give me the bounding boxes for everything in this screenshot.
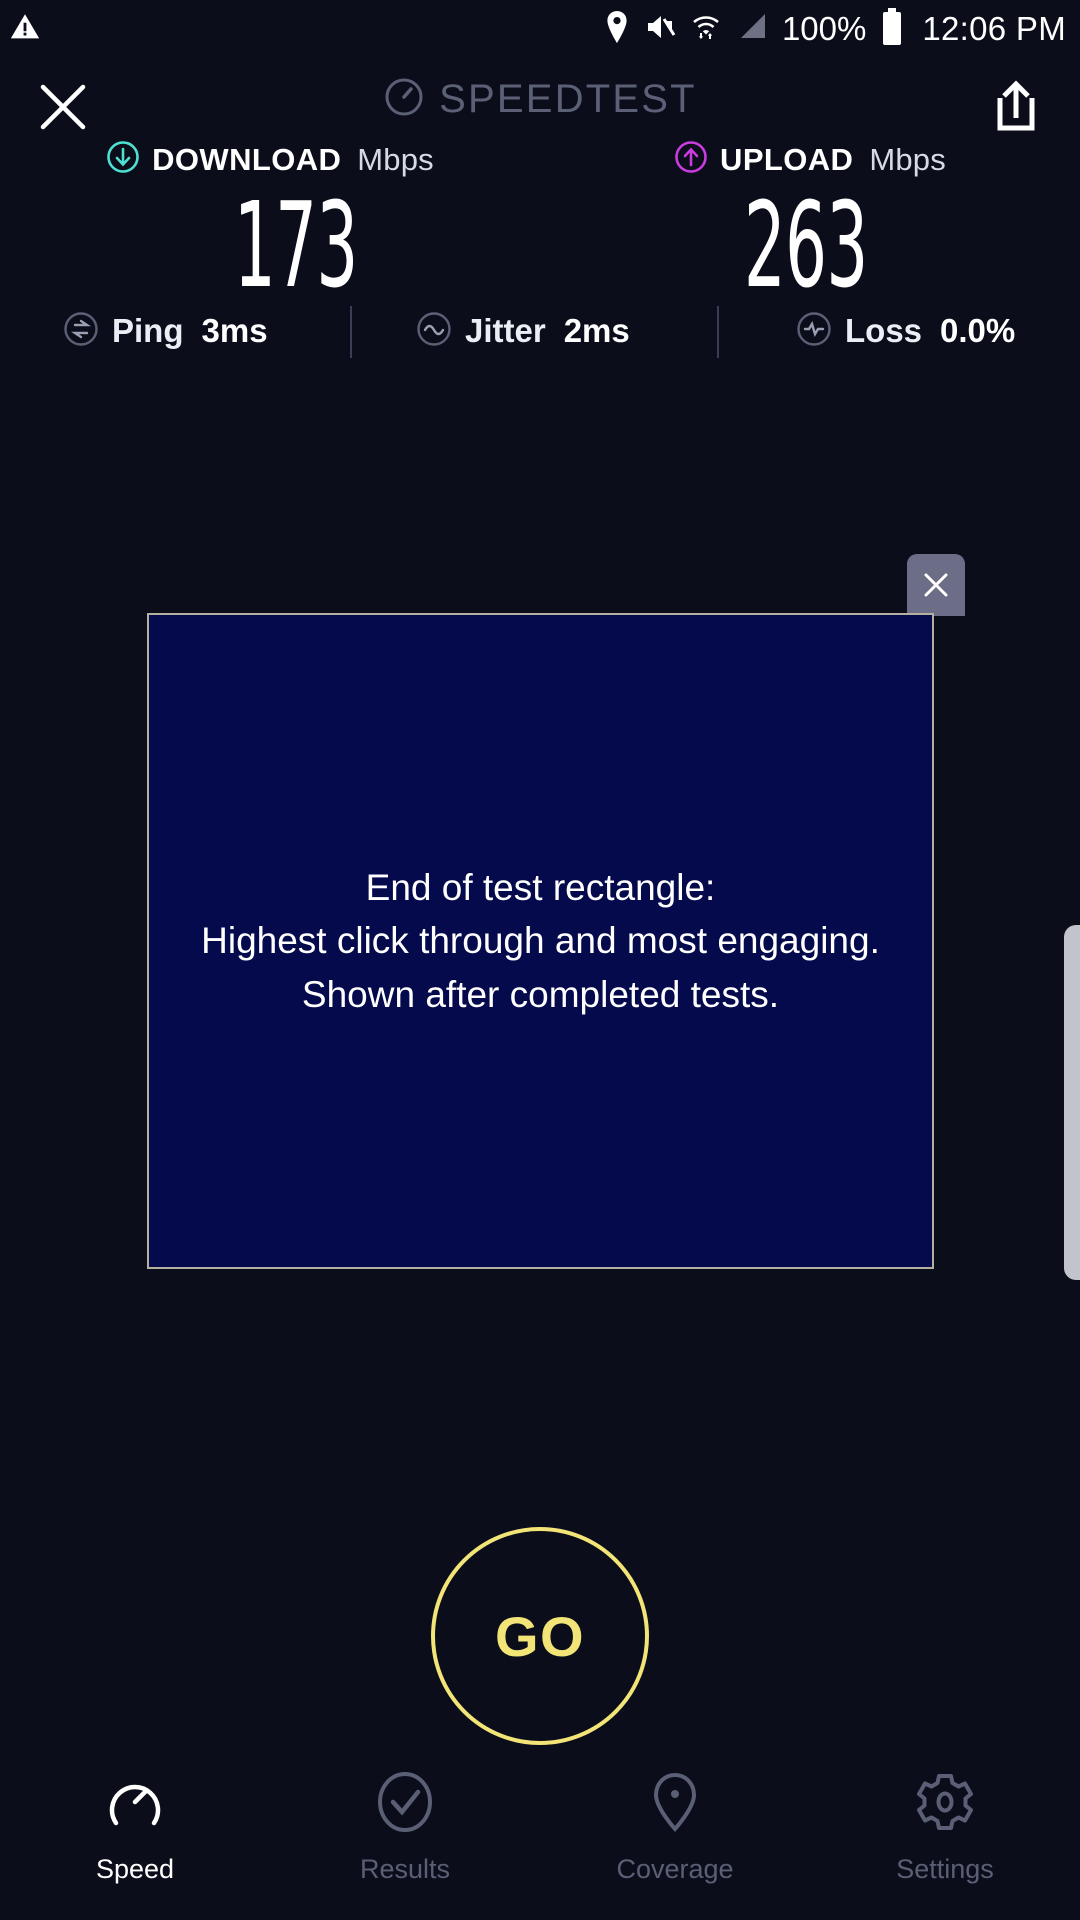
share-icon[interactable] <box>988 78 1044 136</box>
connection-metrics: Ping 3ms Jitter 2ms Loss 0.0% <box>0 300 1080 362</box>
status-bar-clock: 12:06 PM <box>922 10 1066 48</box>
go-button[interactable]: GO <box>431 1527 649 1745</box>
location-pin-icon <box>642 1766 708 1838</box>
metric-loss-value: 0.0% <box>940 312 1015 350</box>
ad-creative[interactable]: End of test rectangle: Highest click thr… <box>147 613 934 1269</box>
app-brand: SPEEDTEST <box>0 76 1080 123</box>
advertisement-container: End of test rectangle: Highest click thr… <box>147 613 934 1269</box>
battery-full-icon <box>880 8 904 51</box>
metric-loss-label: Loss <box>845 312 922 350</box>
download-label: DOWNLOAD <box>152 142 341 178</box>
nav-label-coverage: Coverage <box>616 1854 733 1885</box>
metric-loss: Loss 0.0% <box>795 310 1015 353</box>
download-result: DOWNLOAD Mbps 173 <box>0 140 540 305</box>
download-unit: Mbps <box>357 142 434 178</box>
battery-percent-label: 100% <box>782 10 866 48</box>
metric-ping-label: Ping <box>112 312 184 350</box>
status-bar-right: 100% 12:06 PM <box>604 8 1066 51</box>
app-header: SPEEDTEST <box>0 58 1080 150</box>
metric-divider <box>350 306 352 358</box>
metric-jitter-label: Jitter <box>465 312 546 350</box>
download-value: 173 <box>234 185 358 305</box>
mute-bell-icon <box>644 12 676 47</box>
ad-text: End of test rectangle: Highest click thr… <box>187 861 894 1022</box>
cellular-signal-icon <box>736 12 768 47</box>
bottom-navigation: Speed Results Coverage <box>0 1750 1080 1920</box>
loss-icon <box>795 310 833 353</box>
upload-value: 263 <box>744 185 868 305</box>
download-arrow-icon <box>106 140 140 179</box>
speedometer-icon <box>383 76 425 123</box>
upload-arrow-icon <box>674 140 708 179</box>
status-bar-left <box>8 10 42 49</box>
nav-item-speed[interactable]: Speed <box>0 1766 270 1885</box>
metric-ping-value: 3ms <box>202 312 268 350</box>
metric-divider <box>717 306 719 358</box>
jitter-icon <box>415 310 453 353</box>
wifi-icon <box>690 11 722 48</box>
go-button-label: GO <box>495 1604 585 1669</box>
metric-jitter-value: 2ms <box>564 312 630 350</box>
status-bar: 100% 12:06 PM <box>0 0 1080 58</box>
metric-ping: Ping 3ms <box>62 310 268 353</box>
location-pin-icon <box>604 11 630 48</box>
nav-label-results: Results <box>360 1854 450 1885</box>
app-title: SPEEDTEST <box>439 77 697 122</box>
speedtest-app-screen: 100% 12:06 PM SPEEDTEST <box>0 0 1080 1920</box>
side-scroll-tab[interactable] <box>1064 925 1080 1280</box>
upload-result: UPLOAD Mbps 263 <box>540 140 1080 305</box>
speed-results: DOWNLOAD Mbps 173 UPLOAD Mbps 263 <box>0 140 1080 305</box>
ad-close-icon[interactable] <box>907 554 965 616</box>
check-circle-icon <box>372 1766 438 1838</box>
nav-item-settings[interactable]: Settings <box>810 1766 1080 1885</box>
gear-icon <box>912 1766 978 1838</box>
nav-item-coverage[interactable]: Coverage <box>540 1766 810 1885</box>
speedometer-icon <box>102 1766 168 1838</box>
nav-label-speed: Speed <box>96 1854 174 1885</box>
nav-item-results[interactable]: Results <box>270 1766 540 1885</box>
upload-unit: Mbps <box>869 142 946 178</box>
metric-jitter: Jitter 2ms <box>415 310 630 353</box>
upload-label: UPLOAD <box>720 142 853 178</box>
ping-icon <box>62 310 100 353</box>
nav-label-settings: Settings <box>896 1854 994 1885</box>
warning-triangle-icon <box>8 10 42 49</box>
